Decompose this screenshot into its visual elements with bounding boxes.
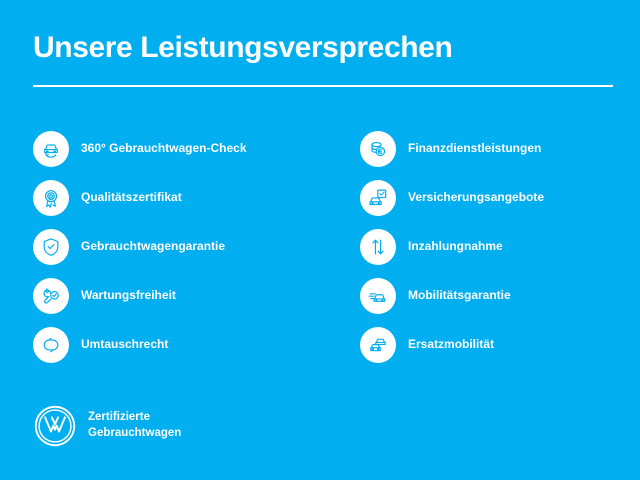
car-motion-icon — [360, 278, 396, 314]
feature-label: Ersatzmobilität — [408, 337, 494, 351]
feature-label: Finanzdienstleistungen — [408, 141, 541, 155]
brand-line-2: Gebrauchtwagen — [88, 427, 181, 439]
up-down-arrows-icon — [360, 229, 396, 265]
feature-label: Inzahlungnahme — [408, 239, 503, 253]
feature-label: Mobilitätsgarantie — [408, 288, 511, 302]
two-cars-icon — [360, 327, 396, 363]
car-document-check-icon — [360, 180, 396, 216]
title-divider — [33, 85, 613, 87]
brand-line-1: Zertifizierte — [88, 411, 150, 423]
page-title: Unsere Leistungsversprechen — [33, 31, 613, 64]
brand-text: ZertifizierteGebrauchtwagen — [88, 410, 181, 441]
feature-column-right: Finanzdienstleistungen Versicherungsange… — [0, 124, 360, 369]
volkswagen-logo-icon — [33, 404, 77, 448]
brand-lockup: ZertifizierteGebrauchtwagen — [33, 404, 181, 448]
coins-euro-icon — [360, 131, 396, 167]
feature-label: Versicherungsangebote — [408, 190, 544, 204]
header: Unsere Leistungsversprechen — [33, 31, 613, 64]
promise-poster: Unsere Leistungsversprechen 360° Gebrauc… — [0, 0, 640, 480]
feature-columns: 360° Gebrauchtwagen-Check Qualitätszerti… — [0, 124, 640, 369]
